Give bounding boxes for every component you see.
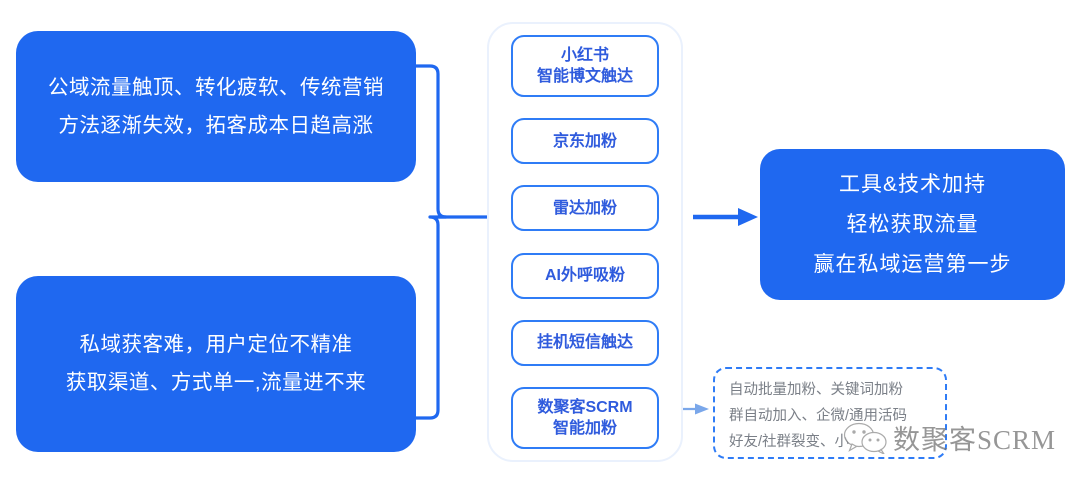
channel-item-leida-title: 雷达加粉 — [553, 198, 617, 219]
result-card-line-1: 工具&技术加持 — [839, 165, 986, 205]
channel-item-sms[interactable]: 挂机短信触达 — [511, 320, 659, 366]
channel-list: 小红书 智能博文触达 京东加粉 雷达加粉 AI外呼吸粉 挂机短信触达 数聚客SC… — [487, 22, 683, 462]
watermark-text: 数聚客SCRM — [893, 418, 1056, 457]
channel-item-shujuke-scrm-subtitle: 智能加粉 — [553, 418, 617, 439]
problem-card-2-line-2: 获取渠道、方式单一,流量进不来 — [66, 364, 366, 402]
problem-card-1-line-2: 方法逐渐失效，拓客成本日趋高涨 — [59, 107, 374, 145]
channel-item-shujuke-scrm-title: 数聚客SCRM — [537, 397, 632, 418]
diagram-canvas: 公域流量触顶、转化疲软、传统营销 方法逐渐失效，拓客成本日趋高涨 私域获客难，用… — [0, 0, 1080, 489]
wechat-icon — [843, 420, 889, 454]
result-card: 工具&技术加持 轻松获取流量 赢在私域运营第一步 — [760, 149, 1065, 300]
problem-card-2: 私域获客难，用户定位不精准 获取渠道、方式单一,流量进不来 — [16, 276, 416, 452]
channel-item-leida[interactable]: 雷达加粉 — [511, 185, 659, 231]
problem-card-2-line-1: 私域获客难，用户定位不精准 — [80, 326, 353, 364]
channel-item-jingdong[interactable]: 京东加粉 — [511, 118, 659, 164]
result-card-line-3: 赢在私域运营第一步 — [814, 245, 1012, 285]
channel-item-sms-title: 挂机短信触达 — [537, 332, 633, 353]
problem-card-1: 公域流量触顶、转化疲软、传统营销 方法逐渐失效，拓客成本日趋高涨 — [16, 31, 416, 182]
detail-line-1: 自动批量加粉、关键词加粉 — [729, 377, 945, 403]
channel-item-shujuke-scrm[interactable]: 数聚客SCRM 智能加粉 — [511, 387, 659, 449]
watermark: 数聚客SCRM — [843, 414, 1056, 460]
channel-item-xiaohongshu[interactable]: 小红书 智能博文触达 — [511, 35, 659, 97]
channel-item-xiaohongshu-subtitle: 智能博文触达 — [537, 66, 633, 87]
brace-connector — [416, 66, 446, 418]
channel-item-ai-outbound-title: AI外呼吸粉 — [545, 265, 625, 286]
main-arrow — [693, 208, 758, 226]
problem-card-1-line-1: 公域流量触顶、转化疲软、传统营销 — [48, 69, 384, 107]
channel-item-ai-outbound[interactable]: AI外呼吸粉 — [511, 253, 659, 299]
result-card-line-2: 轻松获取流量 — [847, 205, 979, 245]
channel-item-jingdong-title: 京东加粉 — [553, 131, 617, 152]
channel-item-xiaohongshu-title: 小红书 — [561, 45, 609, 66]
